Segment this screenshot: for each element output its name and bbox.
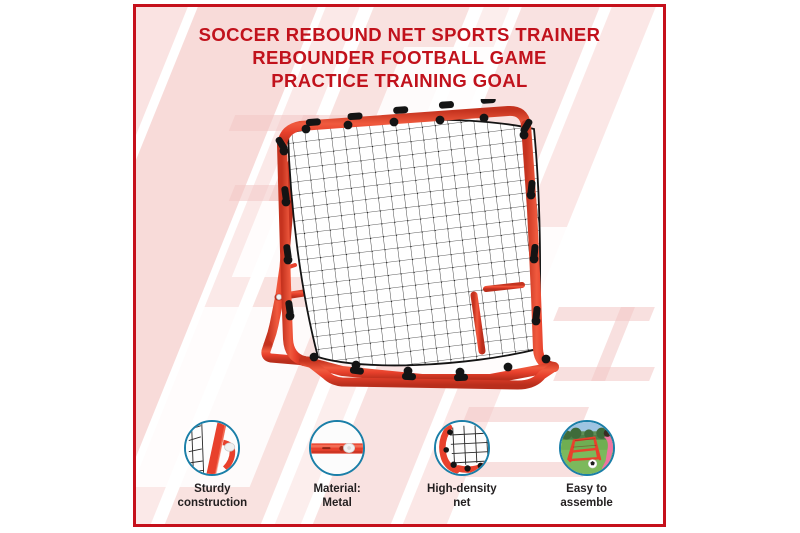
feature-label: Sturdy construction	[154, 483, 270, 510]
feature-item-material-metal: Material: Metal	[279, 420, 395, 510]
feature-label: High-density net	[404, 483, 520, 510]
poster-title: SOCCER REBOUND NET SPORTS TRAINER REBOUN…	[136, 23, 663, 92]
product-image	[222, 99, 594, 401]
metal-tube-closeup-icon	[309, 420, 365, 476]
title-line-2: REBOUNDER FOOTBALL GAME	[136, 46, 663, 69]
feature-item-high-density-net: High-density net	[404, 420, 520, 510]
net-mesh-closeup-icon	[434, 420, 490, 476]
feature-row: Sturdy construction Material: Met	[136, 420, 663, 510]
poster-card: SOCCER REBOUND NET SPORTS TRAINER REBOUN…	[133, 4, 666, 527]
outdoor-assembly-photo-icon	[559, 420, 615, 476]
background-chevron	[591, 307, 635, 381]
sturdy-frame-closeup-icon	[184, 420, 240, 476]
title-line-1: SOCCER REBOUND NET SPORTS TRAINER	[136, 23, 663, 46]
title-line-3: PRACTICE TRAINING GOAL	[136, 69, 663, 92]
feature-label: Easy to assemble	[529, 483, 645, 510]
feature-item-sturdy-construction: Sturdy construction	[154, 420, 270, 510]
feature-item-easy-to-assemble: Easy to assemble	[529, 420, 645, 510]
product-poster: SOCCER REBOUND NET SPORTS TRAINER REBOUN…	[0, 0, 800, 533]
feature-label: Material: Metal	[279, 483, 395, 510]
